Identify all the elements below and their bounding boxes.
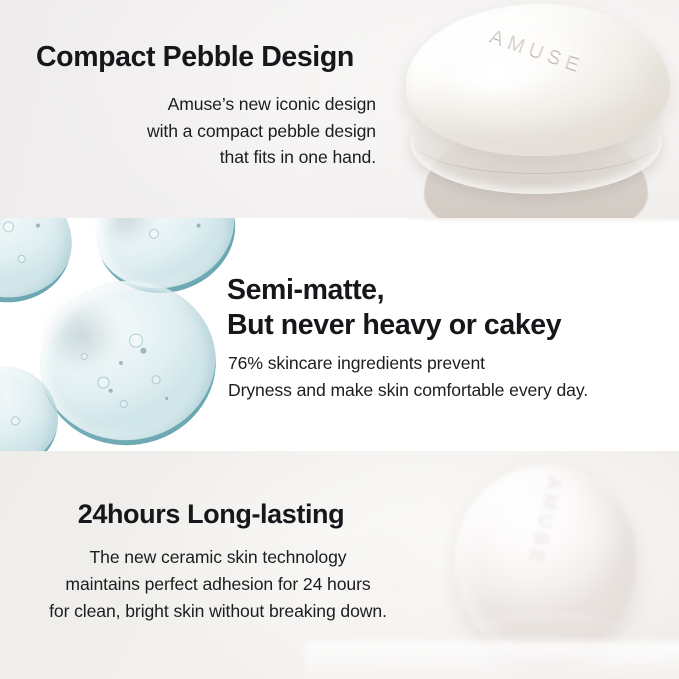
panel-3-body-line-1: The new ceramic skin technology	[0, 544, 436, 571]
panel-3-body-line-2: maintains perfect adhesion for 24 hours	[0, 571, 436, 598]
panel-1-body-line-3: that fits in one hand.	[30, 144, 376, 171]
panel-3-heading: 24hours Long-lasting	[0, 499, 679, 530]
panel-1-heading: Compact Pebble Design	[36, 41, 354, 74]
panel-semi-matte: Semi-matte, But never heavy or cakey 76%…	[0, 218, 679, 451]
panel-2-body-line-1: 76% skincare ingredients prevent	[228, 350, 588, 377]
panel-1-body: Amuse’s new iconic design with a compact…	[30, 91, 376, 171]
gel-speck	[35, 223, 40, 228]
gel-droplet-rim	[29, 270, 226, 451]
panel-3-body-line-3: for clean, bright skin without breaking …	[0, 598, 436, 625]
panel-2-heading-line-2: But never heavy or cakey	[227, 308, 561, 343]
panel-2-heading-line-1: Semi-matte,	[227, 273, 561, 308]
panel-24hours-long-lasting: AMUSE 24hours Long-lasting The new ceram…	[0, 451, 679, 679]
panel-compact-pebble-design: Compact Pebble Design Amuse’s new iconic…	[0, 0, 679, 218]
panel-2-heading: Semi-matte, But never heavy or cakey	[227, 273, 561, 343]
gel-droplet-main	[29, 270, 226, 451]
panel-1-body-line-2: with a compact pebble design	[30, 118, 376, 145]
panel-3-body: The new ceramic skin technology maintain…	[0, 544, 679, 625]
panel-2-body: 76% skincare ingredients prevent Dryness…	[228, 350, 588, 404]
product-feature-infographic: Compact Pebble Design Amuse’s new iconic…	[0, 0, 679, 679]
panel-2-body-line-2: Dryness and make skin comfortable every …	[228, 377, 588, 404]
compact-lid: AMUSE	[406, 4, 670, 156]
panel-1-body-line-1: Amuse’s new iconic design	[30, 91, 376, 118]
surface-reflection	[305, 641, 679, 679]
cushion-compact-product-image: AMUSE	[398, 0, 679, 218]
compact-bottom-bleed	[404, 218, 679, 224]
